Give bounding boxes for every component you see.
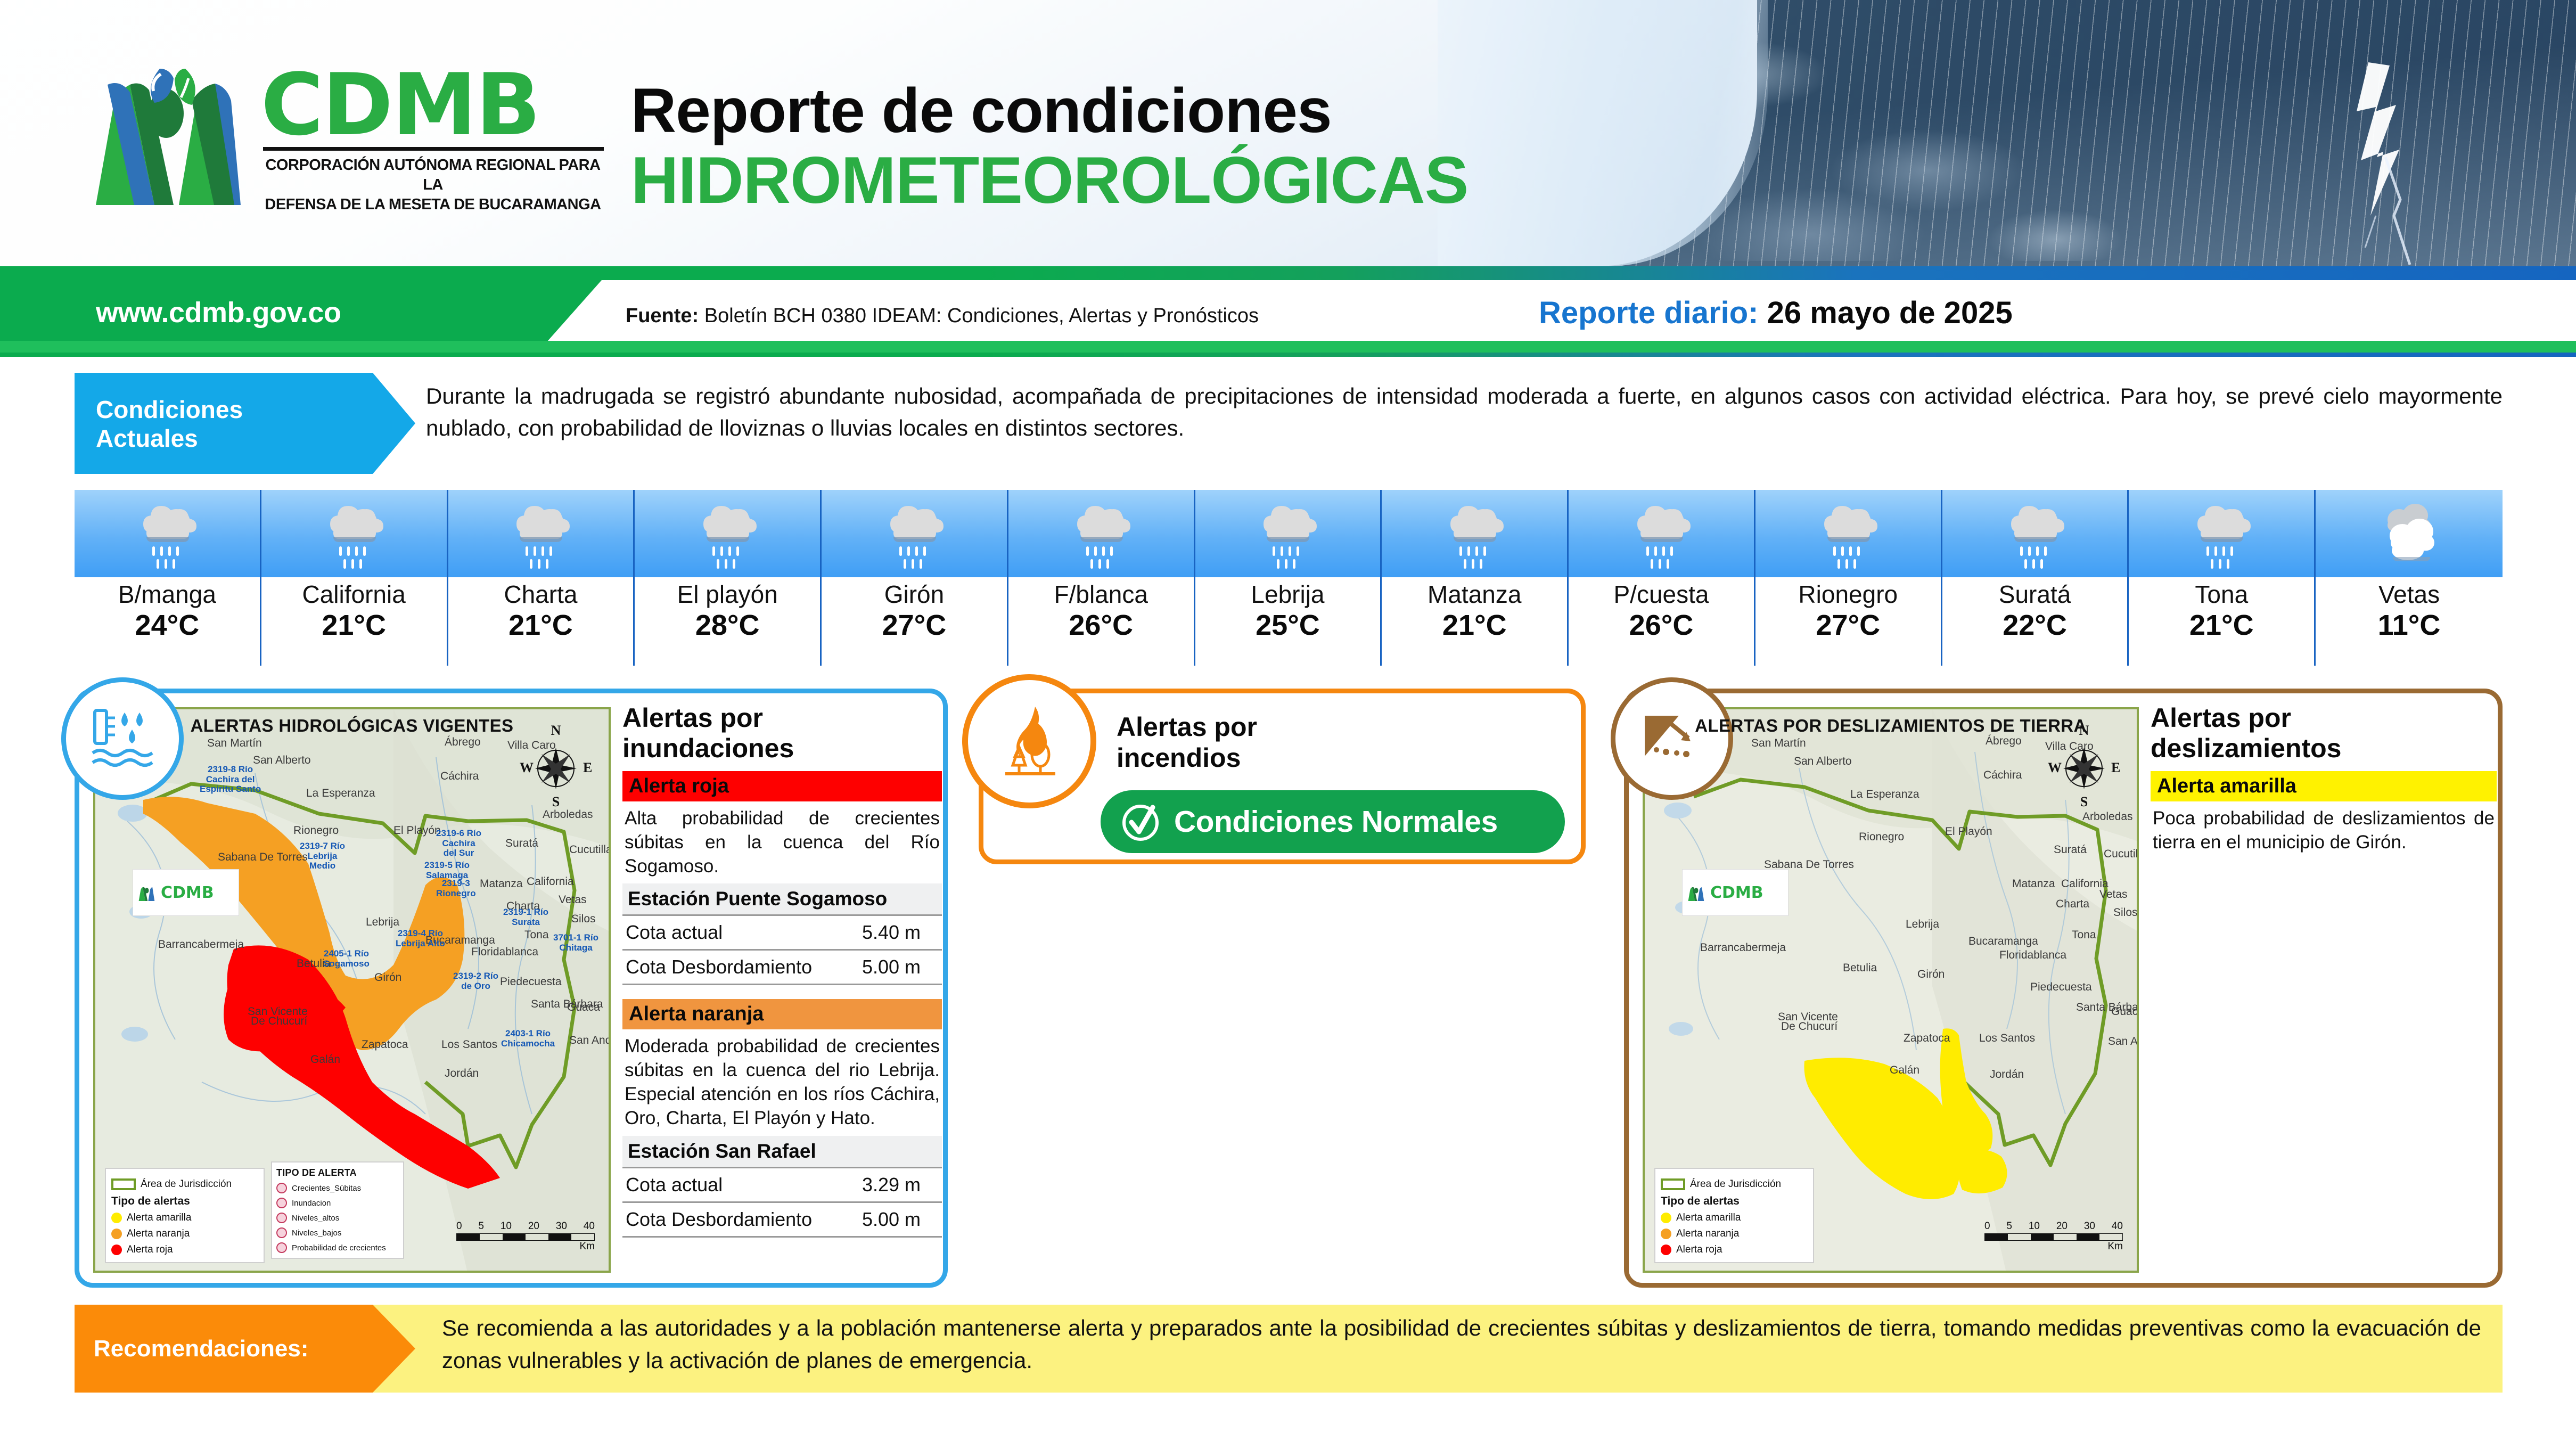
map-river-label: 2319-4 RíoLebrija Alto — [396, 929, 445, 948]
legend-type-orange: Alerta naranja — [111, 1228, 258, 1240]
svg-text:S: S — [2080, 794, 2088, 808]
weather-city-cell: California21°C — [261, 490, 448, 666]
landslide-heading-line1: Alertas por — [2151, 703, 2497, 733]
weather-icon-area — [1569, 490, 1755, 577]
weather-city-temp: 25°C — [1195, 609, 1381, 643]
map-place-label: Barrancabermeja — [1700, 942, 1786, 954]
scale-tick: 20 — [528, 1221, 539, 1232]
compass-rose-icon: N S W E — [2044, 723, 2124, 808]
weather-city-cell: Suratá22°C — [1942, 490, 2129, 666]
red-row-label: Cota actual — [626, 921, 723, 944]
svg-text:N: N — [2079, 723, 2089, 738]
map-place-label: San Andrés — [2108, 1035, 2139, 1048]
map-place-label: La Esperanza — [306, 787, 375, 800]
scale-bar-graphic — [456, 1233, 595, 1241]
recommendations-tag: Recomendaciones: — [75, 1305, 415, 1393]
weather-city-cell: F/blanca26°C — [1008, 490, 1195, 666]
map-river-label: 2405-1 RíoSogamoso — [323, 949, 370, 969]
rain-cloud-icon — [1061, 497, 1141, 572]
map-place-label: Piedecuesta — [500, 976, 562, 988]
weather-city-temp: 22°C — [1942, 609, 2128, 643]
orange-row-label: Cota Desbordamiento — [626, 1208, 812, 1231]
flood-map-legend: Área de Jurisdicción Tipo de alertas Ale… — [105, 1168, 265, 1263]
weather-icon-area — [822, 490, 1008, 577]
alert-panels-row: ALERTAS HIDROLÓGICAS VIGENTES CDMB N S W… — [0, 684, 2576, 1286]
fire-status-label: Condiciones Normales — [1174, 804, 1498, 839]
weather-icon-area — [261, 490, 448, 577]
alert-type-label: Inundacion — [292, 1199, 331, 1208]
weather-city-name: Girón — [822, 580, 1007, 609]
weather-city-cell: Girón27°C — [822, 490, 1008, 666]
weather-city-temp: 24°C — [75, 609, 260, 643]
map-place-label: Lebrija — [1906, 918, 1939, 931]
weather-strip: B/manga24°C California21°C — [75, 490, 2503, 666]
current-conditions-tag: Condiciones Actuales — [75, 373, 415, 474]
flood-panel-heading: Alertas por inundaciones — [622, 703, 942, 764]
map-place-label: Los Santos — [441, 1038, 497, 1051]
orange-alert-bar: Alerta naranja — [622, 999, 942, 1029]
map-river-label: 2319-3Rionegro — [436, 879, 476, 898]
flood-alerts-content: Alertas por inundaciones Alerta roja Alt… — [622, 703, 942, 1238]
rain-cloud-icon — [874, 497, 954, 572]
jurisdiction-swatch-icon — [111, 1178, 136, 1190]
fire-heading-line2: incendios — [1117, 742, 1257, 773]
weather-city-name: California — [261, 580, 447, 609]
map-cdmb-label: CDMB — [161, 883, 214, 902]
rain-cloud-icon — [1248, 497, 1327, 572]
map-place-label: Barrancabermeja — [158, 938, 244, 951]
weather-city-cell: Tona21°C — [2129, 490, 2316, 666]
scale-tick: 40 — [2112, 1221, 2123, 1232]
alert-type-row: Niveles_bajos — [276, 1227, 399, 1238]
alert-type-legend: TIPO DE ALERTA Crecientes_Súbitas Inunda… — [271, 1161, 404, 1259]
rain-cloud-icon — [314, 497, 394, 572]
legend-types-title: Tipo de alertas — [111, 1195, 258, 1208]
red-station-name: Estación Puente Sogamoso — [622, 883, 942, 916]
cloudy-icon — [2369, 497, 2449, 572]
red-station-row: Cota Desbordamiento 5.00 m — [622, 951, 942, 985]
hydrometeorological-report-page: CDMB CORPORACIÓN AUTÓNOMA REGIONAL PARA … — [0, 0, 2576, 1449]
red-alert-bar: Alerta roja — [622, 771, 942, 801]
map-place-label: Girón — [1917, 968, 1945, 981]
flood-badge — [61, 677, 184, 800]
compass-rose-icon: N S W E — [516, 723, 596, 808]
legend-dot-yellow-icon — [1661, 1213, 1671, 1223]
alert-type-row: Inundacion — [276, 1198, 399, 1208]
weather-city-temp: 26°C — [1569, 609, 1754, 643]
svg-text:W: W — [2048, 760, 2062, 775]
weather-city-info: Lebrija25°C — [1195, 577, 1382, 666]
map-place-label: San Andrés — [569, 1034, 611, 1047]
weather-city-info: California21°C — [261, 577, 448, 666]
scale-tick: 30 — [2084, 1221, 2095, 1232]
map-place-label: Cucutilla — [2104, 848, 2139, 861]
legend-dot-yellow-icon — [111, 1213, 122, 1223]
weather-city-name: Vetas — [2316, 580, 2503, 609]
report-title-line2: HIDROMETEOROLÓGICAS — [631, 143, 1468, 218]
legend-label-orange: Alerta naranja — [127, 1228, 190, 1240]
map-place-label: Sabana De Torres — [218, 851, 308, 864]
landslide-map-cdmb-watermark: CDMB — [1682, 869, 1789, 916]
report-date-value: 26 mayo de 2025 — [1767, 296, 2013, 330]
orange-station-row: Cota actual 3.29 m — [622, 1168, 942, 1203]
weather-icon-area — [1755, 490, 1942, 577]
map-place-label: Jordán — [1990, 1068, 2024, 1081]
weather-icon-area — [75, 490, 261, 577]
source-value: Boletín BCH 0380 IDEAM: Condiciones, Ale… — [704, 305, 1259, 327]
weather-city-info: Charta21°C — [448, 577, 635, 666]
map-place-label: Suratá — [2054, 844, 2087, 856]
legend-dot-red-icon — [1661, 1245, 1671, 1255]
fire-status-pill: Condiciones Normales — [1101, 790, 1565, 853]
weather-city-name: Charta — [448, 580, 634, 609]
weather-city-cell: Lebrija25°C — [1195, 490, 1382, 666]
legend-dot-orange-icon — [111, 1229, 122, 1239]
alert-type-legend-title: TIPO DE ALERTA — [276, 1167, 399, 1178]
alert-type-label: Niveles_altos — [292, 1214, 339, 1223]
current-conditions-text: Durante la madrugada se registró abundan… — [426, 380, 2503, 444]
map-place-label: Cáchira — [440, 770, 479, 783]
rain-cloud-icon — [1434, 497, 1514, 572]
map-place-label: Ábrego — [1986, 735, 2022, 748]
legend-label-yellow: Alerta amarilla — [127, 1212, 191, 1224]
weather-icon-area — [448, 490, 635, 577]
alert-type-icon — [276, 1242, 287, 1253]
map-place-label: Suratá — [505, 837, 538, 850]
orange-row-label: Cota actual — [626, 1174, 723, 1196]
landslide-alerts-map[interactable]: ALERTAS POR DESLIZAMIENTOS DE TIERRA CDM… — [1643, 707, 2139, 1273]
scale-tick: 10 — [501, 1221, 512, 1232]
map-place-label: San Martín — [207, 737, 262, 750]
map-place-label: Rionegro — [293, 824, 339, 837]
weather-city-temp: 21°C — [1382, 609, 1567, 643]
alert-type-label: Probabilidad de crecientes — [292, 1243, 386, 1252]
weather-city-info: P/cuesta26°C — [1569, 577, 1755, 666]
water-level-gauge-icon — [87, 704, 158, 773]
scale-tick: 5 — [2006, 1221, 2012, 1232]
alert-type-icon — [276, 1198, 287, 1208]
map-place-label: Matanza — [480, 878, 523, 890]
weather-city-info: Vetas11°C — [2316, 577, 2503, 666]
map-place-label: Guaca — [567, 1001, 600, 1014]
map-place-label: Cáchira — [1983, 769, 2022, 782]
map-place-label: Ábrego — [445, 736, 481, 749]
rain-cloud-icon — [1808, 497, 1888, 572]
map-place-label: Charta — [2056, 898, 2089, 911]
red-row-value: 5.40 m — [862, 921, 937, 944]
map-place-label: Lebrija — [366, 916, 399, 929]
rain-cloud-icon — [687, 497, 767, 572]
weather-city-temp: 27°C — [822, 609, 1007, 643]
weather-city-temp: 28°C — [635, 609, 820, 643]
map-cdmb-mark-icon — [1686, 882, 1707, 903]
fire-panel-heading: Alertas por incendios — [1117, 711, 1257, 773]
svg-text:E: E — [2111, 760, 2120, 775]
svg-text:W: W — [520, 760, 534, 775]
map-place-label: Silos — [2113, 906, 2138, 919]
weather-city-cell: Charta21°C — [448, 490, 635, 666]
map-place-label: Arboledas — [543, 808, 593, 821]
alert-type-label: Crecientes_Súbitas — [292, 1184, 361, 1193]
weather-city-info: Girón27°C — [822, 577, 1008, 666]
landslide-heading-line2: deslizamientos — [2151, 733, 2497, 764]
map-place-label: Galán — [1890, 1064, 1919, 1077]
scale-unit: Km — [456, 1241, 595, 1252]
landslide-panel-heading: Alertas por deslizamientos — [2151, 703, 2497, 764]
weather-city-name: Matanza — [1382, 580, 1567, 609]
rain-cloud-icon — [2181, 497, 2261, 572]
alert-type-icon — [276, 1227, 287, 1238]
conditions-tag-line2: Actuales — [96, 424, 415, 453]
map-scale-bar: 0 5 10 20 30 40 Km — [1984, 1221, 2123, 1252]
map-place-label: Betulia — [1843, 962, 1877, 975]
check-circle-icon — [1119, 800, 1162, 844]
map-place-label: El Playón — [393, 824, 441, 837]
scale-tick: 5 — [478, 1221, 484, 1232]
map-place-label: San Martín — [1751, 737, 1806, 750]
map-cdmb-label: CDMB — [1710, 883, 1763, 902]
legend-type-red: Alerta roja — [1661, 1244, 1808, 1256]
scale-tick: 10 — [2029, 1221, 2040, 1232]
report-date-label: Reporte diario: — [1539, 296, 1759, 330]
map-place-label: Vetas — [2099, 888, 2128, 901]
lightning-bolt-icon — [2306, 56, 2465, 266]
red-station-row: Cota actual 5.40 m — [622, 916, 942, 951]
legend-label-yellow: Alerta amarilla — [1676, 1212, 1741, 1224]
legend-type-red: Alerta roja — [111, 1244, 258, 1256]
weather-city-temp: 26°C — [1008, 609, 1194, 643]
legend-label-red: Alerta roja — [127, 1244, 173, 1256]
red-row-label: Cota Desbordamiento — [626, 956, 812, 978]
map-place-label: Cucutilla — [569, 844, 611, 856]
weather-icon-area — [1008, 490, 1195, 577]
weather-city-info: Tona21°C — [2129, 577, 2316, 666]
hydrological-alerts-map[interactable]: ALERTAS HIDROLÓGICAS VIGENTES CDMB N S W… — [93, 707, 611, 1273]
map-cdmb-mark-icon — [136, 882, 158, 903]
map-place-label: California — [527, 875, 574, 888]
legend-type-yellow: Alerta amarilla — [1661, 1212, 1808, 1224]
yellow-alert-body: Poca probabilidad de deslizamientos de t… — [2151, 801, 2497, 860]
map-river-label: 2319-8 RíoCachira delEspiritu Santo — [200, 765, 261, 795]
map-place-label: El Playón — [1945, 825, 1992, 838]
scale-tick: 0 — [1984, 1221, 1990, 1232]
weather-icon-area — [2129, 490, 2316, 577]
map-place-label: De Chucurí — [1781, 1020, 1837, 1033]
fire-heading-line1: Alertas por — [1117, 711, 1257, 742]
legend-dot-red-icon — [111, 1245, 122, 1255]
weather-icon-area — [635, 490, 822, 577]
weather-icon-area — [2316, 490, 2503, 577]
map-river-label: 2319-6 RíoCachiradel Sur — [436, 829, 481, 858]
map-place-label: San Alberto — [1794, 755, 1852, 768]
weather-city-temp: 27°C — [1755, 609, 1941, 643]
map-place-label: Galán — [310, 1053, 340, 1066]
weather-city-temp: 21°C — [2129, 609, 2314, 643]
orange-station-row: Cota Desbordamiento 5.00 m — [622, 1203, 942, 1238]
website-url[interactable]: www.cdmb.gov.co — [96, 296, 341, 329]
red-row-value: 5.00 m — [862, 956, 937, 978]
source-text: Fuente: Boletín BCH 0380 IDEAM: Condicio… — [626, 305, 1259, 328]
map-place-label: Tona — [2072, 929, 2096, 942]
scale-unit: Km — [1984, 1241, 2123, 1252]
conditions-tag-line1: Condiciones — [96, 395, 415, 424]
alert-type-row: Niveles_altos — [276, 1213, 399, 1223]
recommendations-section: Recomendaciones: Se recomienda a las aut… — [75, 1305, 2503, 1393]
jurisdiction-label: Área de Jurisdicción — [1690, 1178, 1781, 1190]
yellow-alert-bar: Alerta amarilla — [2151, 771, 2497, 801]
orange-row-value: 3.29 m — [862, 1174, 937, 1196]
legend-jurisdiction-row: Área de Jurisdicción — [111, 1178, 258, 1190]
weather-city-info: F/blanca26°C — [1008, 577, 1195, 666]
weather-city-temp: 21°C — [448, 609, 634, 643]
page-header: CDMB CORPORACIÓN AUTÓNOMA REGIONAL PARA … — [0, 0, 2576, 266]
map-place-label: Silos — [571, 913, 596, 926]
map-place-label: Guaca — [2111, 1005, 2139, 1018]
map-river-label: 2319-1 RíoSurata — [503, 907, 548, 927]
weather-city-name: B/manga — [75, 580, 260, 609]
jurisdiction-swatch-icon — [1661, 1178, 1685, 1190]
alert-type-icon — [276, 1213, 287, 1223]
scale-tick: 0 — [456, 1221, 462, 1232]
svg-text:E: E — [583, 760, 592, 775]
flood-alerts-panel: ALERTAS HIDROLÓGICAS VIGENTES CDMB N S W… — [75, 689, 948, 1288]
weather-city-name: Lebrija — [1195, 580, 1381, 609]
forest-fire-icon — [989, 701, 1069, 781]
rain-cloud-icon — [501, 497, 580, 572]
map-place-label: De Chucurí — [251, 1015, 307, 1028]
weather-city-info: Suratá22°C — [1942, 577, 2129, 666]
scale-tick: 30 — [556, 1221, 567, 1232]
map-place-label: Bucaramanga — [1968, 935, 2038, 948]
orange-alert-body: Moderada probabilidad de crecientes súbi… — [622, 1029, 942, 1135]
alert-type-label: Niveles_bajos — [292, 1229, 341, 1238]
weather-city-info: Matanza21°C — [1382, 577, 1569, 666]
map-place-label: Arboledas — [2082, 811, 2133, 823]
weather-city-temp: 11°C — [2316, 609, 2503, 643]
svg-text:S: S — [552, 794, 560, 808]
legend-label-orange: Alerta naranja — [1676, 1228, 1739, 1240]
weather-city-info: B/manga24°C — [75, 577, 261, 666]
map-place-label: Piedecuesta — [2030, 981, 2092, 994]
scale-tick: 40 — [584, 1221, 595, 1232]
cdmb-logo: CDMB CORPORACIÓN AUTÓNOMA REGIONAL PARA … — [75, 45, 612, 221]
scale-bar-graphic — [1984, 1233, 2123, 1241]
weather-city-cell: B/manga24°C — [75, 490, 261, 666]
report-title-line1: Reporte de condiciones — [631, 75, 1332, 147]
rain-cloud-icon — [1621, 497, 1701, 572]
weather-cities-row: B/manga24°C California21°C — [75, 490, 2503, 666]
weather-city-name: F/blanca — [1008, 580, 1194, 609]
map-place-label: Matanza — [2012, 878, 2055, 890]
fire-alerts-panel: Alertas por incendios Condiciones Normal… — [979, 689, 1586, 864]
map-place-label: Tona — [524, 929, 549, 942]
map-place-label: Rionegro — [1859, 831, 1904, 844]
weather-city-info: El playón28°C — [635, 577, 822, 666]
logo-acronym: CDMB — [261, 66, 612, 144]
weather-city-cell: Rionegro27°C — [1755, 490, 1942, 666]
landslide-badge — [1611, 677, 1733, 800]
weather-city-name: Tona — [2129, 580, 2314, 609]
map-place-label: Jordán — [445, 1067, 479, 1080]
weather-city-cell: El playón28°C — [635, 490, 822, 666]
map-river-label: 2403-1 RíoChicamocha — [501, 1029, 555, 1049]
map-river-label: 2319-2 Ríode Oro — [453, 971, 498, 991]
landslide-icon — [1637, 705, 1707, 772]
map-place-label: Zapatoca — [1904, 1032, 1950, 1045]
recommendations-text: Se recomienda a las autoridades y a la p… — [442, 1312, 2481, 1377]
map-river-label: 3701-1 RíoChitaga — [553, 933, 598, 953]
alert-type-icon — [276, 1183, 287, 1193]
map-place-label: Los Santos — [1979, 1032, 2035, 1045]
logo-subtitle-line2: DEFENSA DE LA MESETA DE BUCARAMANGA — [261, 195, 605, 215]
section-spacer — [622, 985, 942, 999]
red-alert-body: Alta probabilidad de crecientes súbitas … — [622, 801, 942, 883]
legend-type-yellow: Alerta amarilla — [111, 1212, 258, 1224]
fire-badge — [962, 674, 1096, 808]
rain-cloud-icon — [1995, 497, 2075, 572]
map-scale-bar: 0 5 10 20 30 40 Km — [456, 1221, 595, 1252]
cdmb-logo-mark-icon — [75, 45, 261, 216]
weather-city-name: Suratá — [1942, 580, 2128, 609]
map-place-label: San Alberto — [253, 754, 311, 767]
map-place-label: Floridablanca — [1999, 949, 2066, 962]
legend-label-red: Alerta roja — [1676, 1244, 1722, 1256]
weather-city-cell: Matanza21°C — [1382, 490, 1569, 666]
flood-heading-line2: inundaciones — [622, 733, 942, 764]
weather-city-name: Rionegro — [1755, 580, 1941, 609]
map-river-label: 2319-7 RíoLebrijaMedio — [300, 841, 345, 871]
rain-cloud-icon — [127, 497, 207, 572]
orange-station-name: Estación San Rafael — [622, 1136, 942, 1168]
orange-row-value: 5.00 m — [862, 1208, 937, 1231]
report-date-block: Reporte diario: 26 mayo de 2025 — [1539, 295, 2013, 331]
alert-type-row: Probabilidad de crecientes — [276, 1242, 399, 1253]
jurisdiction-label: Área de Jurisdicción — [141, 1178, 232, 1190]
source-label: Fuente: — [626, 305, 699, 327]
info-bar-bottom-rule — [0, 341, 2576, 353]
weather-city-cell: P/cuesta26°C — [1569, 490, 1755, 666]
current-conditions-section: Condiciones Actuales Durante la madrugad… — [75, 373, 2503, 474]
legend-jurisdiction-row: Área de Jurisdicción — [1661, 1178, 1808, 1190]
weather-city-info: Rionegro27°C — [1755, 577, 1942, 666]
map-place-label: Vetas — [559, 894, 587, 906]
weather-city-temp: 21°C — [261, 609, 447, 643]
weather-city-name: El playón — [635, 580, 820, 609]
scale-tick: 20 — [2056, 1221, 2068, 1232]
legend-type-orange: Alerta naranja — [1661, 1228, 1808, 1240]
map-place-label: La Esperanza — [1850, 788, 1919, 801]
weather-city-cell: Vetas11°C — [2316, 490, 2503, 666]
svg-text:N: N — [551, 723, 561, 738]
map-place-label: Floridablanca — [471, 946, 538, 959]
legend-dot-orange-icon — [1661, 1229, 1671, 1239]
legend-types-title: Tipo de alertas — [1661, 1195, 1808, 1208]
map-place-label: Girón — [374, 971, 401, 984]
map-cdmb-watermark: CDMB — [133, 869, 239, 916]
weather-icon-area — [1195, 490, 1382, 577]
map-river-label: 2319-5 RíoSalamaga — [424, 861, 470, 880]
map-place-label: Zapatoca — [362, 1038, 408, 1051]
landslide-map-legend: Área de Jurisdicción Tipo de alertas Ale… — [1654, 1168, 1814, 1263]
weather-icon-area — [1382, 490, 1569, 577]
flood-heading-line1: Alertas por — [622, 703, 942, 733]
weather-icon-area — [1942, 490, 2129, 577]
weather-city-name: P/cuesta — [1569, 580, 1754, 609]
landslide-alerts-content: Alertas por deslizamientos Alerta amaril… — [2151, 703, 2497, 860]
logo-subtitle-line1: CORPORACIÓN AUTÓNOMA REGIONAL PARA LA — [261, 155, 605, 195]
alert-type-row: Crecientes_Súbitas — [276, 1183, 399, 1193]
landslide-alerts-panel: ALERTAS POR DESLIZAMIENTOS DE TIERRA CDM… — [1624, 689, 2503, 1288]
